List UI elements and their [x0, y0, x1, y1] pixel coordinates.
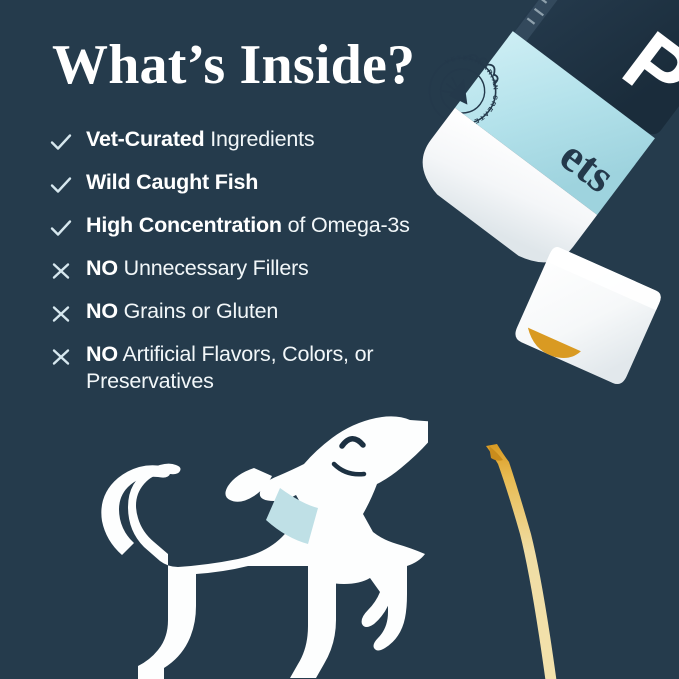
dog-eye-icon	[342, 439, 363, 446]
benefit-rest: Ingredients	[204, 127, 314, 151]
bottle-cap	[512, 245, 663, 387]
benefit-text: NO Artificial Flavors, Colors, or Preser…	[86, 341, 436, 395]
benefit-rest: Unnecessary Fillers	[118, 256, 309, 280]
dog-collar	[266, 488, 318, 544]
benefit-item-wild-caught-fish: Wild Caught Fish	[48, 169, 518, 198]
page-title: What’s Inside?	[52, 36, 415, 95]
dog-ear-path	[225, 468, 272, 502]
benefit-item-no-fillers: NO Unnecessary Fillers	[48, 255, 518, 284]
benefit-text: High Concentration of Omega-3s	[86, 212, 410, 239]
dog-tail-path	[101, 465, 170, 555]
dog-illustration	[58, 406, 428, 679]
benefit-emphasis: NO	[86, 342, 118, 366]
benefit-emphasis: NO	[86, 299, 118, 323]
check-icon	[48, 172, 74, 198]
svg-text:VETERINARIAN CREATED: VETERINARIAN CREATED	[421, 42, 514, 133]
oil-stream	[473, 444, 593, 679]
benefit-rest: Grains or Gluten	[118, 299, 278, 323]
veterinarian-created-seal: VETERINARIAN CREATED	[416, 40, 515, 139]
dog-body-path	[128, 416, 428, 679]
benefit-emphasis: NO	[86, 256, 118, 280]
bottle-cap-highlight	[546, 245, 663, 310]
benefit-emphasis: High Concentration	[86, 213, 282, 237]
check-icon	[48, 129, 74, 155]
dog-silhouette	[101, 416, 428, 679]
benefit-text: Vet-Curated Ingredients	[86, 126, 314, 153]
cap-oil-lip	[521, 328, 581, 366]
benefit-item-no-grains: NO Grains or Gluten	[48, 298, 518, 327]
bottle-label-text: ets	[551, 129, 625, 202]
oil-stream-path	[486, 444, 557, 679]
dog-front-leg-path	[310, 548, 393, 627]
benefit-text: NO Grains or Gluten	[86, 298, 278, 325]
benefit-text: Wild Caught Fish	[86, 169, 258, 196]
promo-poster: P	[0, 0, 679, 679]
benefit-emphasis: Vet-Curated	[86, 127, 204, 151]
check-icon	[48, 215, 74, 241]
bottle-fineprint-strip	[514, 0, 679, 41]
benefit-item-no-artificial: NO Artificial Flavors, Colors, or Preser…	[48, 341, 518, 395]
cross-icon	[48, 344, 74, 370]
bottle-cap-group	[512, 245, 663, 387]
benefit-rest: Artificial Flavors, Colors, or Preservat…	[86, 342, 373, 393]
benefit-item-high-concentration: High Concentration of Omega-3s	[48, 212, 518, 241]
dog-mouth-line	[334, 464, 364, 474]
benefit-item-vet-curated: Vet-Curated Ingredients	[48, 126, 518, 155]
benefit-emphasis: Wild Caught Fish	[86, 170, 258, 194]
benefits-list: Vet-Curated Ingredients Wild Caught Fish…	[48, 126, 518, 409]
benefit-rest: of Omega-3s	[282, 213, 410, 237]
benefit-text: NO Unnecessary Fillers	[86, 255, 309, 282]
cross-icon	[48, 258, 74, 284]
bottle-navy-body	[513, 0, 679, 138]
bottle-brand-letter: P	[606, 13, 679, 124]
oil-drip-blob	[489, 446, 503, 461]
cross-icon	[48, 301, 74, 327]
